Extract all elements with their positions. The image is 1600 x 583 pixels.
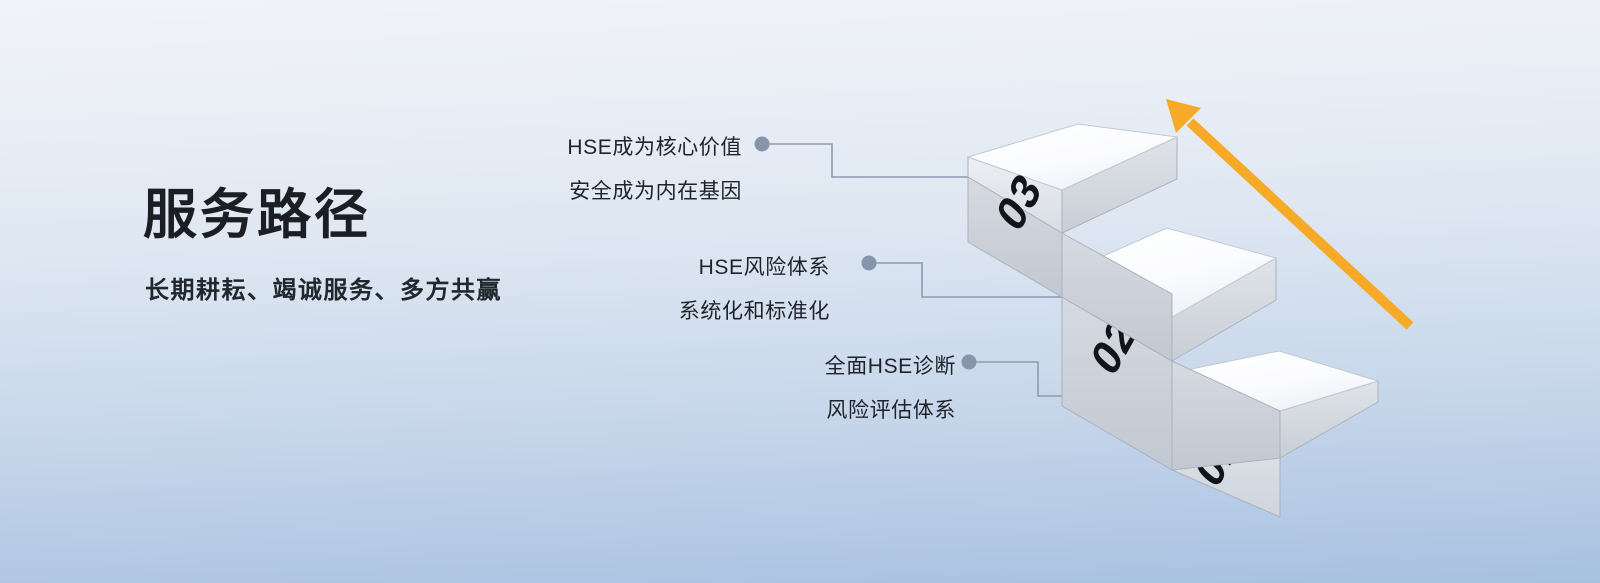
connector-dot-02 <box>862 256 877 271</box>
connector-dots <box>755 137 977 370</box>
connector-dot-03 <box>755 137 770 152</box>
staircase-illustration: 01 02 03 <box>0 0 1600 583</box>
slide-canvas: 服务路径 长期耕耘、竭诚服务、多方共赢 HSE成为核心价值 安全成为内在基因 H… <box>0 0 1600 583</box>
connector-dot-01 <box>962 355 977 370</box>
connector-03 <box>768 144 968 177</box>
